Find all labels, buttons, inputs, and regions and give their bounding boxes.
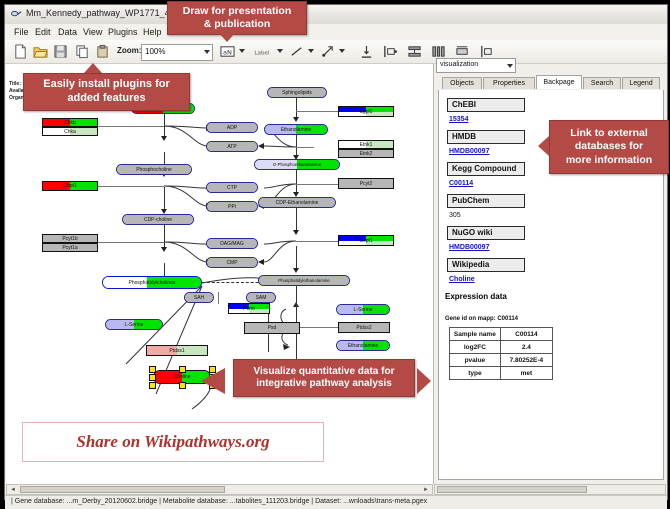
align-left-icon[interactable] <box>383 44 398 59</box>
pathvisio-window: Mm_Kennedy_pathway_WP1771_45176.gpml Fil… <box>4 4 668 500</box>
gene-pemt[interactable]: Pemt <box>228 303 270 314</box>
scroll-right-icon[interactable]: ► <box>423 487 429 493</box>
table-row: log2FC 2.4 <box>450 341 553 354</box>
gene-ptdss2[interactable]: Ptdss2 <box>338 322 390 333</box>
app-icon <box>11 9 22 20</box>
status-text: | Gene database: ...m_Derby_20120602.bri… <box>11 498 427 505</box>
metabolite-phosphocholine[interactable]: Phosphocholine <box>116 164 192 175</box>
scroll-thumb[interactable] <box>437 486 587 493</box>
callout-visualize: Visualize quantitative data for integrat… <box>233 359 415 397</box>
value-pubchem: 305 <box>449 212 461 219</box>
callout-visualize-line1: Visualize quantitative data for <box>254 366 395 377</box>
gene-pcyt1a[interactable]: Pcyt1a <box>42 243 98 252</box>
gene-ptdss1[interactable]: Ptdss1 <box>146 345 208 356</box>
callout-draw: Draw for presentation & publication <box>167 1 307 35</box>
zoom-value: 100% <box>145 47 165 56</box>
anchor-icon[interactable] <box>320 44 335 59</box>
section-header-pubchem: PubChem <box>447 194 525 208</box>
resize-handle-s[interactable] <box>179 382 186 389</box>
distribute-icon[interactable] <box>431 44 446 59</box>
resize-handle-n[interactable] <box>179 366 186 373</box>
gene-pcyt2[interactable]: Pcyt2 <box>338 178 394 189</box>
expression-data-heading: Expression data <box>445 292 507 301</box>
menu-bar: File Edit Data View Plugins Help <box>5 24 667 41</box>
menu-data[interactable]: Data <box>55 26 80 38</box>
gene-etnk2[interactable]: Etnk2 <box>338 149 394 158</box>
gene-chka[interactable]: Chka <box>42 127 98 136</box>
metabolite-l-serine-left[interactable]: L-Serine <box>105 319 163 330</box>
section-header-chebi: ChEBI <box>447 98 525 112</box>
callout-link: Link to external databases for more info… <box>549 120 669 174</box>
zoom-combo[interactable]: 100% <box>141 44 213 61</box>
metabolite-l-serine-right[interactable]: L-Serine <box>336 304 390 315</box>
gene-sgpl1[interactable]: Sgpl1 <box>338 106 394 117</box>
link-nugo[interactable]: HMDB00097 <box>449 244 489 251</box>
table-row: Sample name C00114 <box>450 328 553 341</box>
metabolite-ethanolamine-bottom[interactable]: Ethanolamine <box>336 340 390 351</box>
chevron-down-icon[interactable] <box>204 50 210 54</box>
metabolite-cmp[interactable]: CMP <box>206 257 258 268</box>
callout-draw-line2: & publication <box>204 18 271 30</box>
callout-link-line3: more information <box>566 154 652 166</box>
callout-plugins-pointer <box>84 63 102 73</box>
link-wikipedia[interactable]: Choline <box>449 276 475 283</box>
callout-share: Share on Wikipathways.org <box>22 422 324 462</box>
metabolite-atp[interactable]: ATP <box>206 141 258 152</box>
gene-pcyt1b[interactable]: Pcyt1b <box>42 234 98 243</box>
label-dropdown-icon[interactable] <box>277 49 283 53</box>
paste-icon[interactable] <box>95 44 110 59</box>
menu-help[interactable]: Help <box>140 26 165 38</box>
svg-text:Label: Label <box>254 50 270 56</box>
cell-label: type <box>450 367 501 380</box>
section-header-wikipedia: Wikipedia <box>447 258 525 272</box>
pathway-canvas[interactable]: Title: Availa Organi <box>6 64 434 484</box>
tab-backpage[interactable]: Backpage <box>536 75 582 89</box>
link-chebi[interactable]: 15354 <box>449 116 468 123</box>
metabolite-cdp-choline[interactable]: CDP-choline <box>122 214 194 225</box>
new-icon[interactable] <box>13 44 28 59</box>
callout-link-pointer <box>538 136 549 156</box>
tab-search[interactable]: Search <box>583 77 621 89</box>
common-width-icon[interactable] <box>455 44 470 59</box>
scroll-thumb[interactable] <box>20 486 225 493</box>
svg-text:aN: aN <box>223 48 232 56</box>
title-bar: Mm_Kennedy_pathway_WP1771_45176.gpml <box>5 5 667 25</box>
datanode-icon[interactable]: aN <box>220 44 235 59</box>
callout-link-line1: Link to external <box>570 127 648 139</box>
toolbar: Zoom: 100% aN Label <box>5 40 667 64</box>
menu-edit[interactable]: Edit <box>32 26 54 38</box>
gene-cept1[interactable]: Cept1 <box>338 235 394 246</box>
callout-draw-line1: Draw for presentation <box>183 5 292 17</box>
tab-row: Objects Properties Backpage Search Legen… <box>438 75 664 90</box>
gene-chpt1[interactable]: Chpt1 <box>42 181 98 191</box>
cell-value: C00114 <box>500 328 552 341</box>
menu-plugins[interactable]: Plugins <box>105 26 141 38</box>
cell-value: met <box>500 367 552 380</box>
metabolite-o-phosphoethanolamine[interactable]: O-Phosphoethanolamine <box>254 159 340 170</box>
line-icon[interactable] <box>289 44 304 59</box>
section-header-kegg: Kegg Compound <box>447 162 525 176</box>
cell-label: pvalue <box>450 354 501 367</box>
metabolite-dagmag[interactable]: DAG/MAG <box>206 238 258 249</box>
metabolite-adp[interactable]: ADP <box>206 122 258 133</box>
tab-legend[interactable]: Legend <box>622 77 660 89</box>
panel-hscrollbar[interactable] <box>434 484 666 495</box>
table-row: pvalue 7.80252E-4 <box>450 354 553 367</box>
metabolite-sah[interactable]: SAH <box>184 292 214 303</box>
callout-visualize-pointer <box>201 368 225 394</box>
zoom-label: Zoom: <box>117 46 141 55</box>
callout-draw-pointer <box>218 32 236 42</box>
metabolite-phosphatidylcholines[interactable]: Phosphatidylcholines <box>102 276 202 289</box>
visualization-combo[interactable]: visualization <box>436 58 516 73</box>
save-icon[interactable] <box>53 44 68 59</box>
menu-file[interactable]: File <box>11 26 32 38</box>
metabolite-sphingolipids[interactable]: Sphingolipids <box>267 87 327 98</box>
cell-value: 2.4 <box>500 341 552 354</box>
tab-objects[interactable]: Objects <box>442 77 482 89</box>
expression-table: Sample name C00114 log2FC 2.4 pvalue 7.8… <box>449 327 553 380</box>
callout-link-line2: databases for <box>575 140 643 152</box>
chevron-down-icon[interactable] <box>507 64 513 68</box>
metabolite-sam[interactable]: SAM <box>246 292 276 303</box>
gene-etnk1[interactable]: Etnk1 <box>338 140 394 149</box>
section-header-hmdb: HMDB <box>447 130 525 144</box>
copy-icon[interactable] <box>75 44 90 59</box>
link-kegg[interactable]: C00114 <box>449 180 473 187</box>
gene-psd[interactable]: Psd <box>244 322 300 334</box>
metabolite-ctp[interactable]: CTP <box>206 182 258 193</box>
canvas-hscrollbar[interactable]: ◄ ► <box>6 484 433 495</box>
stack-vertical-icon[interactable] <box>407 44 422 59</box>
metabolite-phosphatidylethanolamine[interactable]: Phosphatidylethanolamine <box>258 275 350 286</box>
table-row: type met <box>450 367 553 380</box>
menu-view[interactable]: View <box>80 26 105 38</box>
metabolite-ppi[interactable]: PPi <box>206 201 258 212</box>
cell-label: log2FC <box>450 341 501 354</box>
open-icon[interactable] <box>33 44 48 59</box>
gene-id-label: Gene id on mapp: C00114 <box>445 316 518 322</box>
cell-value: 7.80252E-4 <box>500 354 552 367</box>
scroll-left-icon[interactable]: ◄ <box>10 487 16 493</box>
callout-plugins-line1: Easily install plugins for <box>43 78 170 90</box>
datanode-dropdown-icon[interactable] <box>239 49 245 53</box>
group-icon[interactable] <box>479 44 494 59</box>
align-bottom-icon[interactable] <box>359 44 374 59</box>
callout-plugins: Easily install plugins for added feature… <box>23 73 190 111</box>
callout-visualize-line2: integrative pathway analysis <box>256 378 392 389</box>
metabolite-ethanolamine-top[interactable]: Ethanolamine <box>264 124 328 135</box>
section-header-nugo: NuGO wiki <box>447 226 525 240</box>
line-dropdown-icon[interactable] <box>308 49 314 53</box>
resize-handle-nw[interactable] <box>149 366 156 373</box>
callout-visualize-pointer-right <box>417 368 431 394</box>
resize-handle-w[interactable] <box>149 374 156 381</box>
anchor-dropdown-icon[interactable] <box>339 49 345 53</box>
resize-handle-sw[interactable] <box>149 382 156 389</box>
gene-chkb[interactable]: Chkb <box>42 118 98 127</box>
callout-share-text: Share on Wikipathways.org <box>76 432 269 452</box>
link-hmdb[interactable]: HMDB00097 <box>449 148 489 155</box>
tab-properties[interactable]: Properties <box>483 77 535 89</box>
label-icon[interactable]: Label <box>251 44 273 59</box>
visualization-value: visualization <box>440 61 478 68</box>
callout-plugins-line2: added features <box>67 92 145 104</box>
status-bar: | Gene database: ...m_Derby_20120602.bri… <box>5 495 667 509</box>
metabolite-cdp-ethanolamine[interactable]: CDP-Ethanolamine <box>258 197 336 208</box>
cell-label: Sample name <box>450 328 501 341</box>
